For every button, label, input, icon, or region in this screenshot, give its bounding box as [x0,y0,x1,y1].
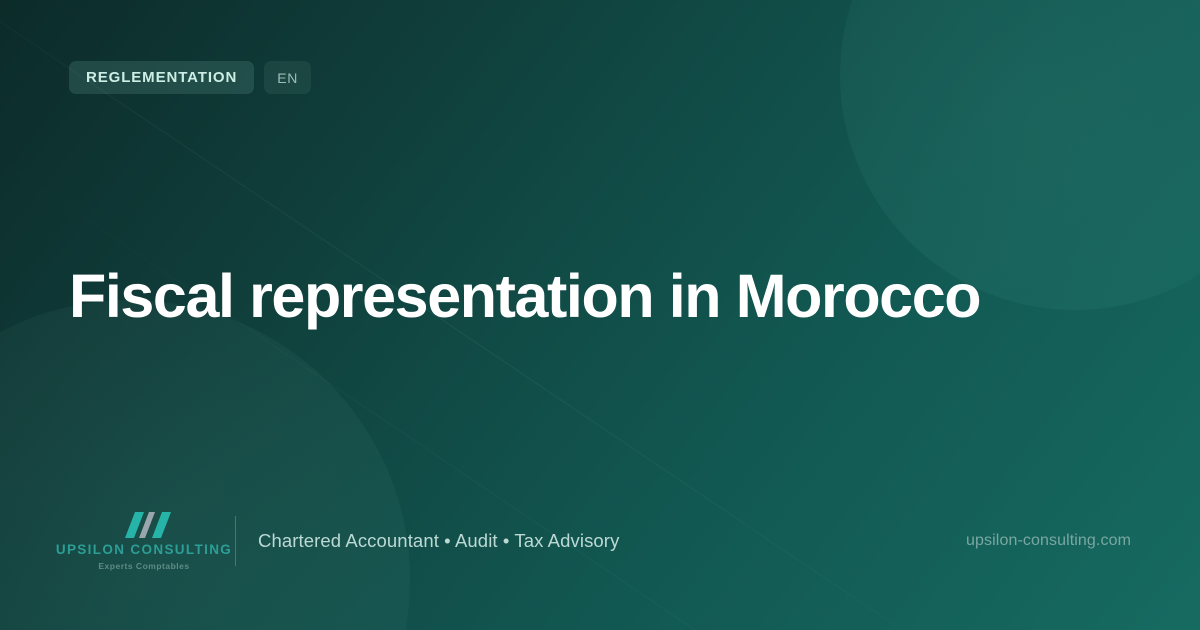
brand-name: UPSILON CONSULTING [56,543,232,557]
language-badge[interactable]: EN [264,61,311,94]
services-tagline: Chartered Accountant • Audit • Tax Advis… [258,532,619,551]
category-badge[interactable]: REGLEMENTATION [69,61,254,94]
social-card-canvas: REGLEMENTATION EN Fiscal representation … [0,0,1200,630]
page-title: Fiscal representation in Morocco [69,264,1079,330]
footer-divider [235,516,236,566]
site-url[interactable]: upsilon-consulting.com [966,533,1131,549]
brand-logo[interactable]: UPSILON CONSULTING Experts Comptables [69,512,219,570]
badge-row: REGLEMENTATION EN [69,61,311,94]
footer: UPSILON CONSULTING Experts Comptables Ch… [69,504,1131,578]
brand-subtitle: Experts Comptables [98,562,189,571]
decorative-circle-bottom-left [0,300,410,630]
upsilon-slanted-bars-icon [113,512,175,538]
